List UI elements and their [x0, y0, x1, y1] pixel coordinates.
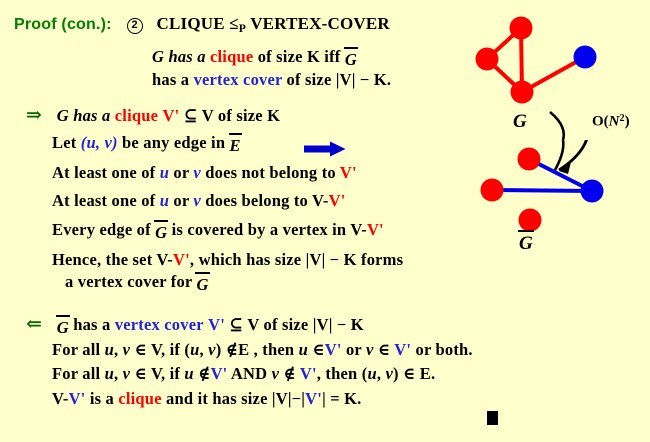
claim-g-prefix: G has a [152, 47, 210, 66]
bwd3-g: , then ( [317, 364, 368, 383]
bwd2-v2: v [208, 340, 216, 359]
backward-forall-line-1: For all u, v ∈ V, if (u, v) ∉E , then u … [52, 340, 473, 360]
bwd3-c: ∈ V, if [130, 364, 184, 383]
bwd3-u3: u [367, 364, 376, 383]
bwd4-a: V- [52, 389, 69, 408]
forward-arrow-icon: ⇒ [26, 105, 42, 126]
fwd6-b: , which has size |V| − K forms [190, 250, 403, 269]
step-number-badge: 2 [127, 18, 143, 34]
complexity-label: O(N2) [592, 113, 630, 130]
bwd3-u: u [105, 364, 114, 383]
bwd2-u3: u [299, 340, 308, 359]
bwd1-b: ⊆ V of size |V| − K [225, 315, 364, 334]
fwd3-u: u [160, 163, 169, 182]
node-gbar-bottom [519, 209, 542, 232]
claim-size-text: of size K iff [253, 47, 344, 66]
bwd4-vprime: V' [69, 389, 86, 408]
fwd1-g: G has a [57, 106, 115, 125]
bwd2-i: or both. [411, 340, 473, 359]
fwd3-a: At least one of [52, 163, 160, 182]
fwd2-edge-pair: (u, v) [81, 133, 118, 152]
fwd6-vprime: V' [173, 250, 190, 269]
g-complement-symbol-4: G [57, 317, 69, 338]
bwd2-g: or [342, 340, 366, 359]
blue-block-arrow-icon [304, 141, 346, 157]
node-g-left [476, 48, 499, 71]
node-gbar-top [518, 148, 541, 171]
fwd3-b: or [169, 163, 193, 182]
claim-line-2: has a vertex cover of size |V| − K. [152, 70, 391, 90]
node-gbar-left [481, 179, 504, 202]
bwd4-vprime-2: V' [305, 389, 322, 408]
fwd2-let: Let [52, 133, 81, 152]
edge-gbar-left-right [492, 190, 592, 191]
bwd1-a: has a [69, 315, 115, 334]
fwd4-u: u [160, 191, 169, 210]
bwd4-c: and it has size |V|−| [162, 389, 305, 408]
claim2-suffix: of size |V| − K. [282, 70, 391, 89]
bwd2-h: ∈ [374, 340, 395, 359]
bwd2-e: ) ∉E , then [216, 340, 299, 359]
forward-every-edge-line: Every edge of G is covered by a vertex i… [52, 220, 384, 243]
g-complement-symbol: G [345, 49, 357, 70]
fwd4-vprime: V' [329, 191, 346, 210]
fwd3-vprime: V' [340, 163, 357, 182]
forward-let-edge-line: Let (u, v) be any edge in E [52, 133, 241, 156]
graph-gbar-edges [492, 159, 592, 191]
forward-hence-line: Hence, the set V-V', which has size |V| … [52, 250, 403, 270]
reduction-symbol: ≤P [229, 14, 246, 33]
backward-arrow-icon: ⇐ [26, 314, 42, 335]
node-g-right-blue [574, 46, 597, 69]
bwd2-b: , [114, 340, 123, 359]
bwd3-e: AND [227, 364, 271, 383]
qed-square-marker [487, 411, 498, 425]
fwd4-b: or [169, 191, 193, 210]
bwd4-b: is a [86, 389, 119, 408]
graph-g-edges [487, 28, 585, 92]
bwd4-clique-word: clique [118, 389, 161, 408]
fwd4-v: v [193, 191, 201, 210]
bwd2-c: ∈ V, if ( [130, 340, 190, 359]
g-complement-symbol-2: G [155, 222, 167, 243]
slide-canvas: Proof (con.): 2 CLIQUE ≤P VERTEX-COVER G… [0, 0, 650, 442]
bwd2-u: u [105, 340, 114, 359]
bwd2-d: , [200, 340, 209, 359]
page-title: Proof (con.): 2 CLIQUE ≤P VERTEX-COVER [14, 14, 390, 35]
node-gbar-right-blue [581, 180, 604, 203]
bwd3-f: ∉ [279, 364, 300, 383]
vertex-cover-keyword: VERTEX-COVER [250, 14, 390, 33]
claim-line-1: G has a clique of size K iff G [152, 47, 357, 70]
g-complement-symbol-3: G [196, 274, 208, 295]
e-complement-symbol: E [230, 135, 241, 156]
bwd2-a: For all [52, 340, 105, 359]
bwd2-u2: u [190, 340, 199, 359]
fwd3-v: v [193, 163, 201, 182]
backward-conclusion-line: V-V' is a clique and it has size |V|−|V'… [52, 389, 362, 409]
fwd1-vprime: V' [162, 106, 179, 125]
claim-clique-word: clique [210, 47, 253, 66]
backward-implication-line: ⇐ G has a vertex cover V' ⊆ V of size |V… [26, 313, 364, 338]
forward-implication-line: ⇒ G has a clique V' ⊆ V of size K [26, 104, 280, 127]
node-g-bottom [511, 81, 534, 104]
graph-g-nodes [476, 17, 597, 104]
claim-vertex-cover-word: vertex cover [194, 70, 283, 89]
fwd5-a: Every edge of [52, 220, 155, 239]
claim2-prefix: has a [152, 70, 194, 89]
forward-hence-cont-line: a vertex cover for G [65, 272, 209, 295]
fwd1-clique-word: clique [115, 106, 158, 125]
node-g-top [510, 17, 533, 40]
bwd3-d: ∉ [194, 364, 211, 383]
brace-arc-upper [550, 112, 564, 140]
complexity-var: N [609, 113, 620, 129]
graph-g-label: G [513, 111, 527, 133]
proof-heading-label: Proof (con.): [14, 16, 112, 33]
bwd2-v3: v [366, 340, 374, 359]
forward-atleast-does-line: At least one of u or v does belong to V-… [52, 191, 346, 211]
backward-forall-line-2: For all u, v ∈ V, if u ∉V' AND v ∉ V', t… [52, 364, 435, 384]
fwd7-a: a vertex cover for [65, 272, 196, 291]
brace-arc-lower [555, 140, 563, 170]
bwd1-vprime: V' [208, 315, 225, 334]
bwd3-vprime-2: V' [300, 364, 317, 383]
bwd3-a: For all [52, 364, 105, 383]
bwd2-vprime-2: V' [394, 340, 411, 359]
graph-gbar-figure [455, 140, 650, 265]
bwd3-b: , [114, 364, 123, 383]
bwd3-i: ) ∈ E. [393, 364, 435, 383]
fwd1-rest: ⊆ V of size K [179, 106, 280, 125]
fwd5-vprime: V' [367, 220, 384, 239]
reduction-subscript: P [239, 22, 246, 35]
clique-keyword: CLIQUE [157, 14, 225, 33]
forward-atleast-not-line: At least one of u or v does not belong t… [52, 163, 357, 183]
bwd3-u2: u [184, 364, 193, 383]
fwd3-c: does not belong to [201, 163, 340, 182]
fwd4-a: At least one of [52, 191, 160, 210]
bwd3-vprime-1: V' [211, 364, 228, 383]
fwd4-c: does belong to V- [201, 191, 329, 210]
fwd6-a: Hence, the set V- [52, 250, 173, 269]
bwd2-vprime-1: V' [325, 340, 342, 359]
bwd4-d: | = K. [322, 389, 361, 408]
fwd2-mid: be any edge in [118, 133, 230, 152]
bwd2-f: ∈ [308, 340, 325, 359]
bwd3-v3: v [385, 364, 393, 383]
graph-gbar-label: G [519, 232, 533, 255]
fwd5-b: is covered by a vertex in V- [167, 220, 367, 239]
bwd3-v2: v [272, 364, 280, 383]
bwd1-vertex-cover-word: vertex cover [115, 315, 204, 334]
